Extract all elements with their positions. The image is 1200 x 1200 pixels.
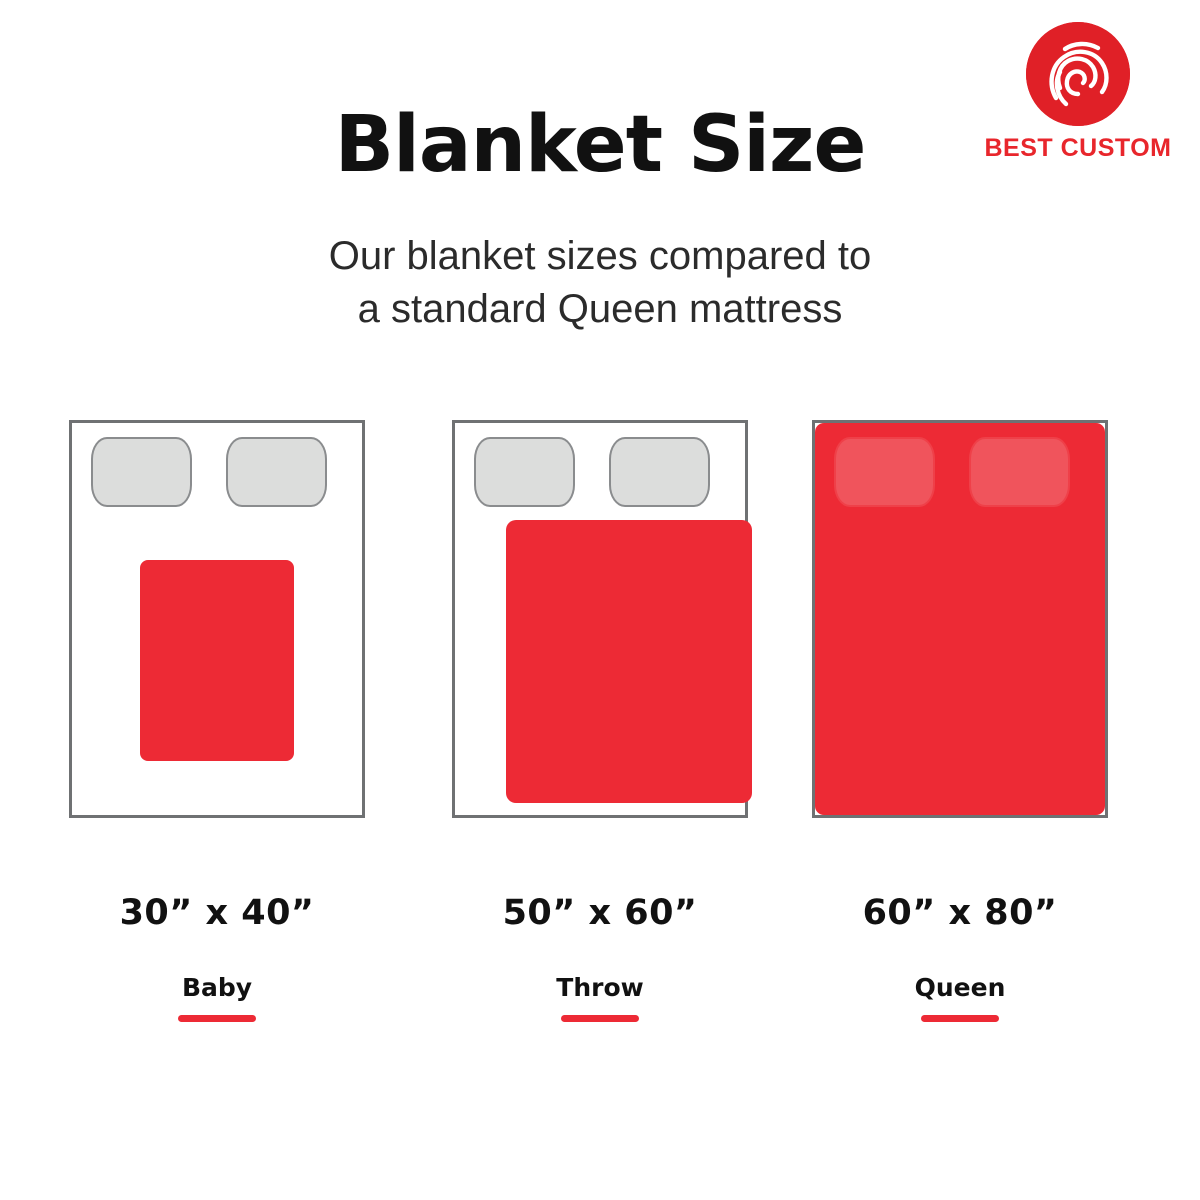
size-name: Queen <box>790 973 1130 1002</box>
size-card-baby: 30” x 40” Baby <box>47 420 387 1022</box>
pillow-right <box>969 437 1070 507</box>
size-name: Baby <box>47 973 387 1002</box>
subtitle-line-1: Our blanket sizes compared to <box>0 230 1200 283</box>
page-title: Blanket Size <box>0 103 1200 187</box>
pillow-right <box>226 437 327 507</box>
blanket-swatch <box>506 520 752 803</box>
size-name: Throw <box>430 973 770 1002</box>
size-dimensions: 60” x 80” <box>790 893 1130 933</box>
size-card-queen: 60” x 80” Queen <box>790 420 1130 1022</box>
size-dimensions: 30” x 40” <box>47 893 387 933</box>
page-subtitle: Our blanket sizes compared to a standard… <box>0 230 1200 336</box>
size-underline <box>561 1015 639 1022</box>
pillow-right <box>609 437 710 507</box>
size-card-throw: 50” x 60” Throw <box>430 420 770 1022</box>
size-dimensions: 50” x 60” <box>430 893 770 933</box>
bed-diagram-throw <box>452 420 748 818</box>
size-underline <box>178 1015 256 1022</box>
bed-diagram-baby <box>69 420 365 818</box>
bed-diagram-queen <box>812 420 1108 818</box>
pillow-left <box>91 437 192 507</box>
pillow-left <box>834 437 935 507</box>
subtitle-line-2: a standard Queen mattress <box>0 283 1200 336</box>
blanket-size-comparison: 30” x 40” Baby 50” x 60” Throw 60” x 80”… <box>0 420 1200 1060</box>
size-underline <box>921 1015 999 1022</box>
blanket-swatch <box>140 560 294 761</box>
pillow-left <box>474 437 575 507</box>
